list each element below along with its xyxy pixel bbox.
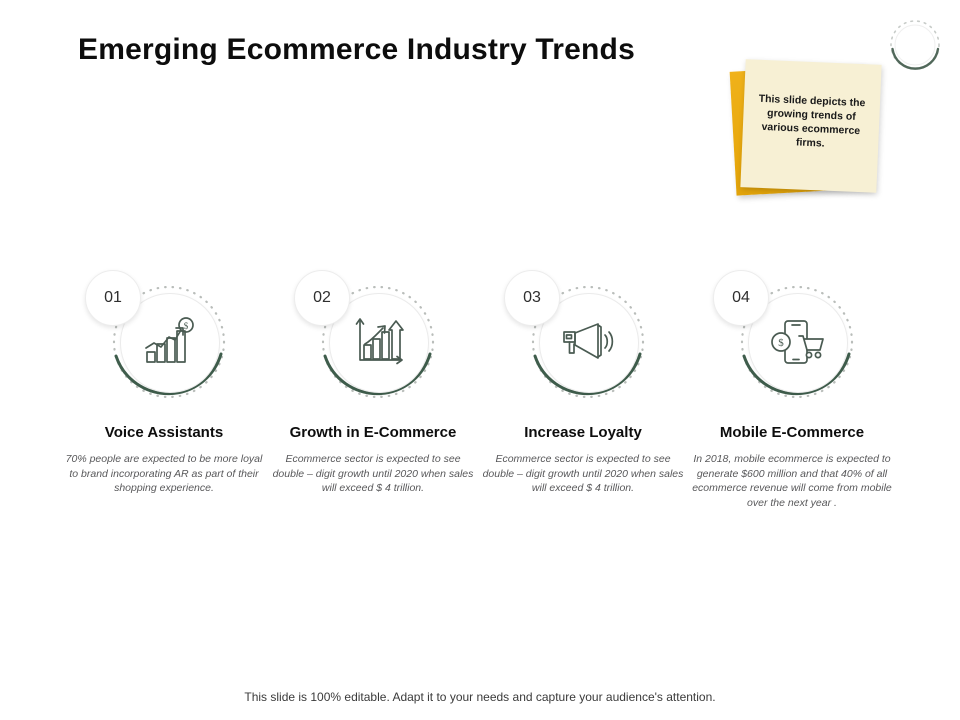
step-badge-2: 02: [294, 270, 350, 326]
circle-graphic-3: 03: [476, 262, 690, 407]
trend-column-1[interactable]: $ 01 Voice Assistants 70% people are exp…: [57, 262, 271, 496]
decorative-ring-graphic: [884, 14, 946, 76]
svg-text:$: $: [778, 337, 784, 349]
trend-heading-1: Voice Assistants: [57, 424, 271, 441]
sticky-note-front-layer: This slide depicts the growing trends of…: [740, 59, 881, 193]
circle-graphic-4: $ 04: [685, 262, 899, 407]
circle-graphic-1: $ 01: [57, 262, 271, 407]
trends-row: $ 01 Voice Assistants 70% people are exp…: [0, 262, 960, 532]
trend-heading-4: Mobile E-Commerce: [685, 424, 899, 441]
step-badge-3: 03: [504, 270, 560, 326]
footer-note: This slide is 100% editable. Adapt it to…: [0, 690, 960, 704]
trend-body-2: Ecommerce sector is expected to see doub…: [266, 452, 480, 496]
trend-column-2[interactable]: 02 Growth in E-Commerce Ecommerce sector…: [266, 262, 480, 496]
circle-graphic-2: 02: [266, 262, 480, 407]
trend-body-1: 70% people are expected to be more loyal…: [57, 452, 271, 496]
trend-heading-2: Growth in E-Commerce: [266, 424, 480, 441]
step-badge-4: 04: [713, 270, 769, 326]
trend-body-3: Ecommerce sector is expected to see doub…: [476, 452, 690, 496]
trend-body-4: In 2018, mobile ecommerce is expected to…: [685, 452, 899, 510]
trend-heading-3: Increase Loyalty: [476, 424, 690, 441]
sticky-note: This slide depicts the growing trends of…: [731, 60, 881, 198]
page-title: Emerging Ecommerce Industry Trends: [78, 33, 635, 67]
step-badge-1: 01: [85, 270, 141, 326]
sticky-note-text: This slide depicts the growing trends of…: [750, 92, 872, 153]
trend-column-4[interactable]: $ 04 Mobile E-Commerce In 2018, mobile e…: [685, 262, 899, 510]
svg-text:$: $: [184, 321, 189, 331]
trend-column-3[interactable]: 03 Increase Loyalty Ecommerce sector is …: [476, 262, 690, 496]
